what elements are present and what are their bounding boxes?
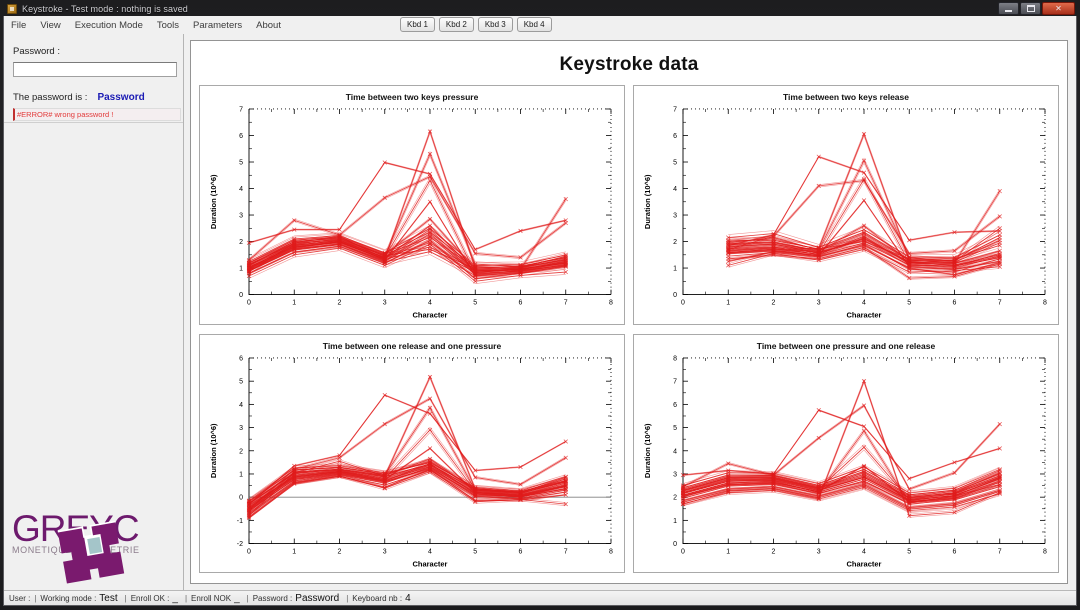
chart-cell-0: Time between two keys pressure 012345670…	[199, 85, 625, 325]
svg-text:0: 0	[239, 292, 243, 299]
menu-view[interactable]: View	[33, 18, 67, 33]
svg-text:0: 0	[673, 541, 677, 548]
svg-text:5: 5	[473, 300, 477, 307]
page-title: Keystroke data	[199, 54, 1059, 76]
svg-text:2: 2	[673, 239, 677, 246]
status-user-label: User :	[9, 594, 30, 603]
client-area: File View Execution Mode Tools Parameter…	[3, 16, 1077, 606]
svg-text:1: 1	[239, 471, 243, 478]
svg-text:5: 5	[673, 425, 677, 432]
svg-text:Character: Character	[413, 311, 448, 320]
minimize-icon	[1005, 10, 1012, 12]
maximize-icon	[1027, 5, 1035, 12]
svg-text:6: 6	[673, 401, 677, 408]
status-enroll-ok-value: _	[169, 593, 181, 604]
svg-text:5: 5	[473, 548, 477, 555]
chart-title-0: Time between two keys pressure	[205, 92, 619, 102]
password-result-label: The password is :	[13, 92, 87, 103]
app-icon	[7, 4, 17, 14]
svg-text:6: 6	[519, 300, 523, 307]
password-label: Password :	[13, 46, 174, 57]
panel-divider	[4, 122, 183, 123]
svg-text:4: 4	[239, 186, 243, 193]
svg-text:1: 1	[673, 266, 677, 273]
close-button[interactable]: ✕	[1042, 2, 1075, 15]
svg-text:2: 2	[338, 300, 342, 307]
svg-text:8: 8	[1043, 548, 1047, 555]
kbd-2-button[interactable]: Kbd 2	[439, 17, 474, 32]
svg-text:3: 3	[383, 548, 387, 555]
left-panel: Password : The password is : Password #E…	[4, 34, 184, 590]
svg-text:5: 5	[673, 160, 677, 167]
chart-title-2: Time between one release and one pressur…	[205, 341, 619, 351]
svg-text:0: 0	[239, 494, 243, 501]
puzzle-icon	[10, 512, 176, 584]
svg-text:Character: Character	[847, 559, 882, 568]
menu-file[interactable]: File	[4, 18, 33, 33]
svg-text:3: 3	[383, 300, 387, 307]
svg-text:Duration (10^6): Duration (10^6)	[643, 174, 652, 229]
svg-text:6: 6	[239, 133, 243, 140]
password-input[interactable]	[13, 62, 177, 77]
svg-text:4: 4	[239, 401, 243, 408]
svg-text:0: 0	[681, 548, 685, 555]
svg-text:5: 5	[907, 548, 911, 555]
svg-text:7: 7	[239, 106, 243, 113]
svg-text:2: 2	[772, 300, 776, 307]
svg-text:8: 8	[609, 300, 613, 307]
status-password-label: Password :	[253, 594, 293, 603]
svg-text:4: 4	[673, 448, 677, 455]
chart-cell-3: Time between one pressure and one releas…	[633, 334, 1059, 574]
window-title: Keystroke - Test mode : nothing is saved	[22, 4, 188, 14]
menu-tools[interactable]: Tools	[150, 18, 186, 33]
chart-title-3: Time between one pressure and one releas…	[639, 341, 1053, 351]
svg-text:6: 6	[519, 548, 523, 555]
keyboard-button-group: Kbd 1 Kbd 2 Kbd 3 Kbd 4	[400, 17, 552, 32]
svg-text:6: 6	[953, 300, 957, 307]
status-password-value: Password	[292, 593, 342, 604]
svg-text:5: 5	[239, 378, 243, 385]
kbd-4-button[interactable]: Kbd 4	[517, 17, 552, 32]
chart-cell-1: Time between two keys release 0123456701…	[633, 85, 1059, 325]
status-bar: User : | Working mode : Test | Enroll OK…	[4, 590, 1076, 605]
svg-text:6: 6	[673, 133, 677, 140]
svg-text:7: 7	[673, 106, 677, 113]
svg-text:3: 3	[817, 300, 821, 307]
svg-text:1: 1	[239, 266, 243, 273]
status-sep-5: |	[342, 594, 352, 603]
menu-execution-mode[interactable]: Execution Mode	[68, 18, 150, 33]
svg-text:-2: -2	[237, 541, 243, 548]
status-sep-2: |	[121, 594, 131, 603]
content-area: Keystroke data Time between two keys pre…	[184, 34, 1076, 590]
svg-text:3: 3	[239, 213, 243, 220]
svg-text:-1: -1	[237, 517, 243, 524]
svg-text:4: 4	[673, 186, 677, 193]
status-keyboard-label: Keyboard nb :	[352, 594, 402, 603]
svg-text:7: 7	[998, 300, 1002, 307]
svg-text:1: 1	[292, 548, 296, 555]
svg-text:4: 4	[862, 300, 866, 307]
error-message: #ERROR# wrong password !	[13, 108, 181, 121]
svg-text:3: 3	[673, 213, 677, 220]
plot-2[interactable]: -2-10123456012345678CharacterDuration (1…	[205, 352, 619, 570]
svg-text:6: 6	[953, 548, 957, 555]
svg-text:4: 4	[428, 300, 432, 307]
kbd-1-button[interactable]: Kbd 1	[400, 17, 435, 32]
status-sep-1: |	[30, 594, 40, 603]
svg-text:3: 3	[673, 471, 677, 478]
plot-0[interactable]: 01234567012345678CharacterDuration (10^6…	[205, 103, 619, 321]
svg-text:0: 0	[247, 300, 251, 307]
svg-text:1: 1	[726, 548, 730, 555]
status-working-mode-label: Working mode :	[40, 594, 96, 603]
status-enroll-nok-label: Enroll NOK	[191, 594, 231, 603]
svg-text:2: 2	[673, 494, 677, 501]
svg-text:3: 3	[817, 548, 821, 555]
greyc-logo: GREYC MONETIQUE & BIOMETRIE	[12, 510, 178, 582]
svg-text:2: 2	[338, 548, 342, 555]
svg-text:6: 6	[239, 355, 243, 362]
charts-grid: Time between two keys pressure 012345670…	[199, 85, 1059, 573]
status-working-mode-value: Test	[96, 593, 120, 604]
menu-about[interactable]: About	[249, 18, 288, 33]
svg-text:8: 8	[609, 548, 613, 555]
svg-text:1: 1	[292, 300, 296, 307]
plot-3[interactable]: 012345678012345678CharacterDuration (10^…	[639, 352, 1053, 570]
svg-text:4: 4	[862, 548, 866, 555]
svg-text:7: 7	[564, 548, 568, 555]
svg-text:Duration (10^6): Duration (10^6)	[209, 174, 218, 229]
menu-bar: File View Execution Mode Tools Parameter…	[4, 16, 1076, 34]
status-enroll-nok-value: _	[231, 593, 243, 604]
chart-title-1: Time between two keys release	[639, 92, 1053, 102]
svg-text:0: 0	[673, 292, 677, 299]
svg-text:0: 0	[247, 548, 251, 555]
svg-text:Character: Character	[413, 559, 448, 568]
svg-text:8: 8	[1043, 300, 1047, 307]
kbd-3-button[interactable]: Kbd 3	[478, 17, 513, 32]
svg-text:1: 1	[726, 300, 730, 307]
status-sep-4: |	[243, 594, 253, 603]
chart-cell-2: Time between one release and one pressur…	[199, 334, 625, 574]
maximize-button[interactable]	[1020, 2, 1041, 15]
svg-text:7: 7	[998, 548, 1002, 555]
status-enroll-ok-label: Enroll OK :	[131, 594, 170, 603]
svg-text:Character: Character	[847, 311, 882, 320]
title-bar: Keystroke - Test mode : nothing is saved…	[3, 2, 1077, 16]
svg-text:1: 1	[673, 517, 677, 524]
svg-text:4: 4	[428, 548, 432, 555]
svg-text:Duration (10^6): Duration (10^6)	[643, 422, 652, 477]
svg-text:2: 2	[239, 239, 243, 246]
svg-text:Duration (10^6): Duration (10^6)	[209, 422, 218, 477]
status-keyboard-value: 4	[402, 593, 414, 604]
svg-text:0: 0	[681, 300, 685, 307]
minimize-button[interactable]	[998, 2, 1019, 15]
body-split: Password : The password is : Password #E…	[4, 34, 1076, 590]
svg-text:5: 5	[239, 160, 243, 167]
application-window: Keystroke - Test mode : nothing is saved…	[0, 0, 1080, 610]
password-result: The password is : Password	[13, 92, 174, 103]
password-result-value: Password	[97, 92, 144, 103]
window-controls: ✕	[998, 2, 1075, 15]
close-icon: ✕	[1055, 5, 1062, 13]
svg-text:5: 5	[907, 300, 911, 307]
svg-text:3: 3	[239, 425, 243, 432]
charts-panel: Keystroke data Time between two keys pre…	[190, 40, 1068, 584]
svg-text:7: 7	[673, 378, 677, 385]
svg-text:8: 8	[673, 355, 677, 362]
svg-text:2: 2	[772, 548, 776, 555]
menu-parameters[interactable]: Parameters	[186, 18, 249, 33]
status-sep-3: |	[181, 594, 191, 603]
plot-1[interactable]: 01234567012345678CharacterDuration (10^6…	[639, 103, 1053, 321]
svg-text:7: 7	[564, 300, 568, 307]
svg-text:2: 2	[239, 448, 243, 455]
